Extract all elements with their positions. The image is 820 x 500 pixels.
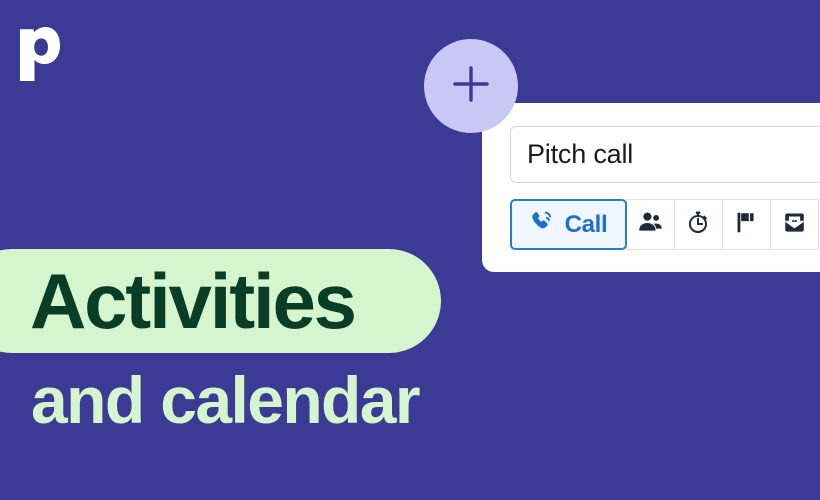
people-meeting-icon <box>638 210 663 240</box>
activity-type-email[interactable] <box>770 199 819 250</box>
headline-line-1: Activities <box>30 249 355 353</box>
headline-line-2: and calendar <box>31 361 419 439</box>
flag-icon <box>734 210 759 240</box>
activity-type-meeting[interactable] <box>626 199 675 250</box>
activity-type-selector: Call <box>510 199 819 250</box>
promo-banner: Activities and calendar Pitch call Call <box>0 0 820 500</box>
activity-card: Pitch call Call <box>482 103 820 272</box>
activity-type-task[interactable] <box>674 199 723 250</box>
add-activity-button[interactable] <box>424 39 518 133</box>
activity-title-input[interactable]: Pitch call <box>510 126 820 183</box>
activity-type-call[interactable]: Call <box>510 199 627 250</box>
inbox-email-icon <box>782 210 807 240</box>
activity-type-deadline[interactable] <box>722 199 771 250</box>
plus-icon <box>448 61 494 112</box>
activity-title-value: Pitch call <box>527 139 633 170</box>
pipedrive-logo <box>20 27 60 81</box>
stopwatch-icon <box>686 210 711 240</box>
activity-type-call-label: Call <box>565 211 608 239</box>
phone-call-icon <box>530 209 556 240</box>
